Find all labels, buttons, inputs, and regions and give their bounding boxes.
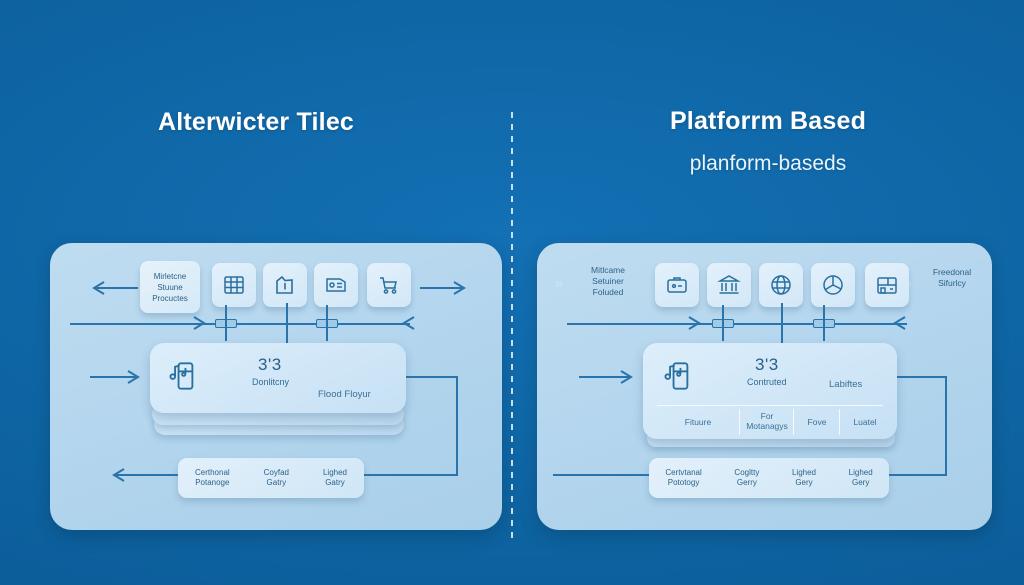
right-bus-line (567, 323, 907, 325)
left-bottom-arrow-left-icon (108, 466, 180, 484)
contact-card-icon (324, 273, 348, 297)
left-card-subtitle: Donlitcny (252, 377, 289, 387)
left-card-number: 3'3 (258, 355, 282, 375)
right-bottom-right-line (889, 474, 947, 476)
right-main-card[interactable]: 3'3 Contruted Labiftes Fituure For Motan… (643, 343, 897, 439)
right-bottom-item-3: Lighed Gery (849, 468, 873, 489)
briefcase-icon (665, 273, 689, 297)
right-valve-2-stem (823, 305, 825, 341)
center-dashed-divider (511, 112, 513, 542)
right-bottom-bar[interactable]: Certvtanal Pototogy Cogltty Gerry Lighed… (649, 458, 889, 498)
right-card-inbound-arrow-icon (577, 368, 637, 386)
left-source-chip[interactable]: Mirletcne Stuune Procuctes (140, 261, 200, 313)
left-inbound-arrow-icon (88, 279, 140, 297)
right-card-sep-1 (739, 409, 740, 435)
right-bus-arrow-left-icon (889, 315, 909, 331)
left-tile-grid[interactable] (212, 263, 256, 307)
left-bus-arrow-left-icon (398, 315, 418, 331)
left-tile-card[interactable] (314, 263, 358, 307)
right-card-subtitle: Contruted (747, 377, 787, 387)
left-tile-upload[interactable] (263, 263, 307, 307)
left-bottom-item-2: Lighed Gatry (323, 468, 347, 489)
right-card-sep-3 (839, 409, 840, 435)
right-panel-subtitle: planform-baseds (512, 152, 1024, 176)
left-bottom-right-line (364, 474, 458, 476)
right-card-subrow-2: Fove (797, 417, 837, 427)
right-card-outbound-line (897, 376, 947, 378)
left-diagram-panel: Mirletcne Stuune Procuctes (50, 243, 502, 530)
left-source-chip-label: Mirletcne Stuune Procuctes (144, 271, 196, 304)
right-card-subrow-1: For Motanagys (743, 411, 791, 431)
left-bus-line (70, 323, 410, 325)
right-panel-title: Platforrm Based (512, 107, 1024, 136)
left-return-line-vertical (456, 376, 458, 474)
right-tile-globe[interactable] (759, 263, 803, 307)
left-card-outbound-line (406, 376, 458, 378)
right-source-label: Mitlcame Setuiner Foluded (577, 265, 639, 298)
cart-trolley-icon (377, 273, 401, 297)
grid-table-icon (222, 273, 246, 297)
left-panel-title: Alterwicter Tilec (0, 108, 512, 137)
right-tile-piechart[interactable] (811, 263, 855, 307)
music-server-icon (663, 361, 691, 396)
bank-building-icon (717, 273, 741, 297)
right-tile-building[interactable] (865, 263, 909, 307)
right-card-right-label: Labiftes (829, 379, 862, 390)
right-card-number: 3'3 (755, 355, 779, 375)
left-bottom-item-0: Certhonal Potanoge (195, 468, 230, 489)
right-card-sep-2 (793, 409, 794, 435)
right-card-subrow-0: Fituure (667, 417, 729, 427)
right-bottom-item-1: Cogltty Gerry (734, 468, 759, 489)
right-return-line-vertical (945, 376, 947, 474)
right-card-divider (657, 405, 883, 406)
right-bottom-item-0: Certvtanal Pototogy (665, 468, 701, 489)
pie-chart-icon (821, 273, 845, 297)
left-card-right-label: Flood Floyur (318, 389, 371, 400)
left-main-card[interactable]: 3'3 Donlitcny Flood Floyur (150, 343, 406, 413)
right-bottom-item-2: Lighed Gery (792, 468, 816, 489)
left-outbound-arrow-icon (418, 279, 470, 297)
left-card-inbound-arrow-icon (88, 368, 144, 386)
right-comparison-column: Platforrm Based planform-baseds » Mitlca… (512, 0, 1024, 585)
upload-folder-icon (273, 273, 297, 297)
music-server-icon (168, 361, 196, 396)
right-valve-1-stem (722, 305, 724, 341)
right-tile-briefcase[interactable] (655, 263, 699, 307)
right-diagram-panel: » Mitlcame Setuiner Foluded › Freedonal … (537, 243, 992, 530)
left-comparison-column: Alterwicter Tilec Mirletcne Stuune Procu… (0, 0, 512, 585)
right-bottom-left-line (553, 474, 649, 476)
right-target-label: Freedonal Sifurlcy (919, 267, 985, 289)
left-valve-1-stem (225, 305, 227, 341)
right-inbound-chevron-icon: » (555, 275, 563, 292)
right-bus-arrow-right-icon (685, 315, 705, 331)
left-bottom-bar[interactable]: Certhonal Potanoge Coyfad Gatry Lighed G… (178, 458, 364, 498)
globe-icon (769, 273, 793, 297)
office-building-icon (875, 273, 899, 297)
left-bus-arrow-right-icon (190, 315, 210, 331)
right-card-subrow-3: Luatel (843, 417, 887, 427)
left-bottom-item-1: Coyfad Gatry (264, 468, 289, 489)
right-tile-bank[interactable] (707, 263, 751, 307)
left-tile-cart[interactable] (367, 263, 411, 307)
left-valve-2-stem (326, 305, 328, 341)
